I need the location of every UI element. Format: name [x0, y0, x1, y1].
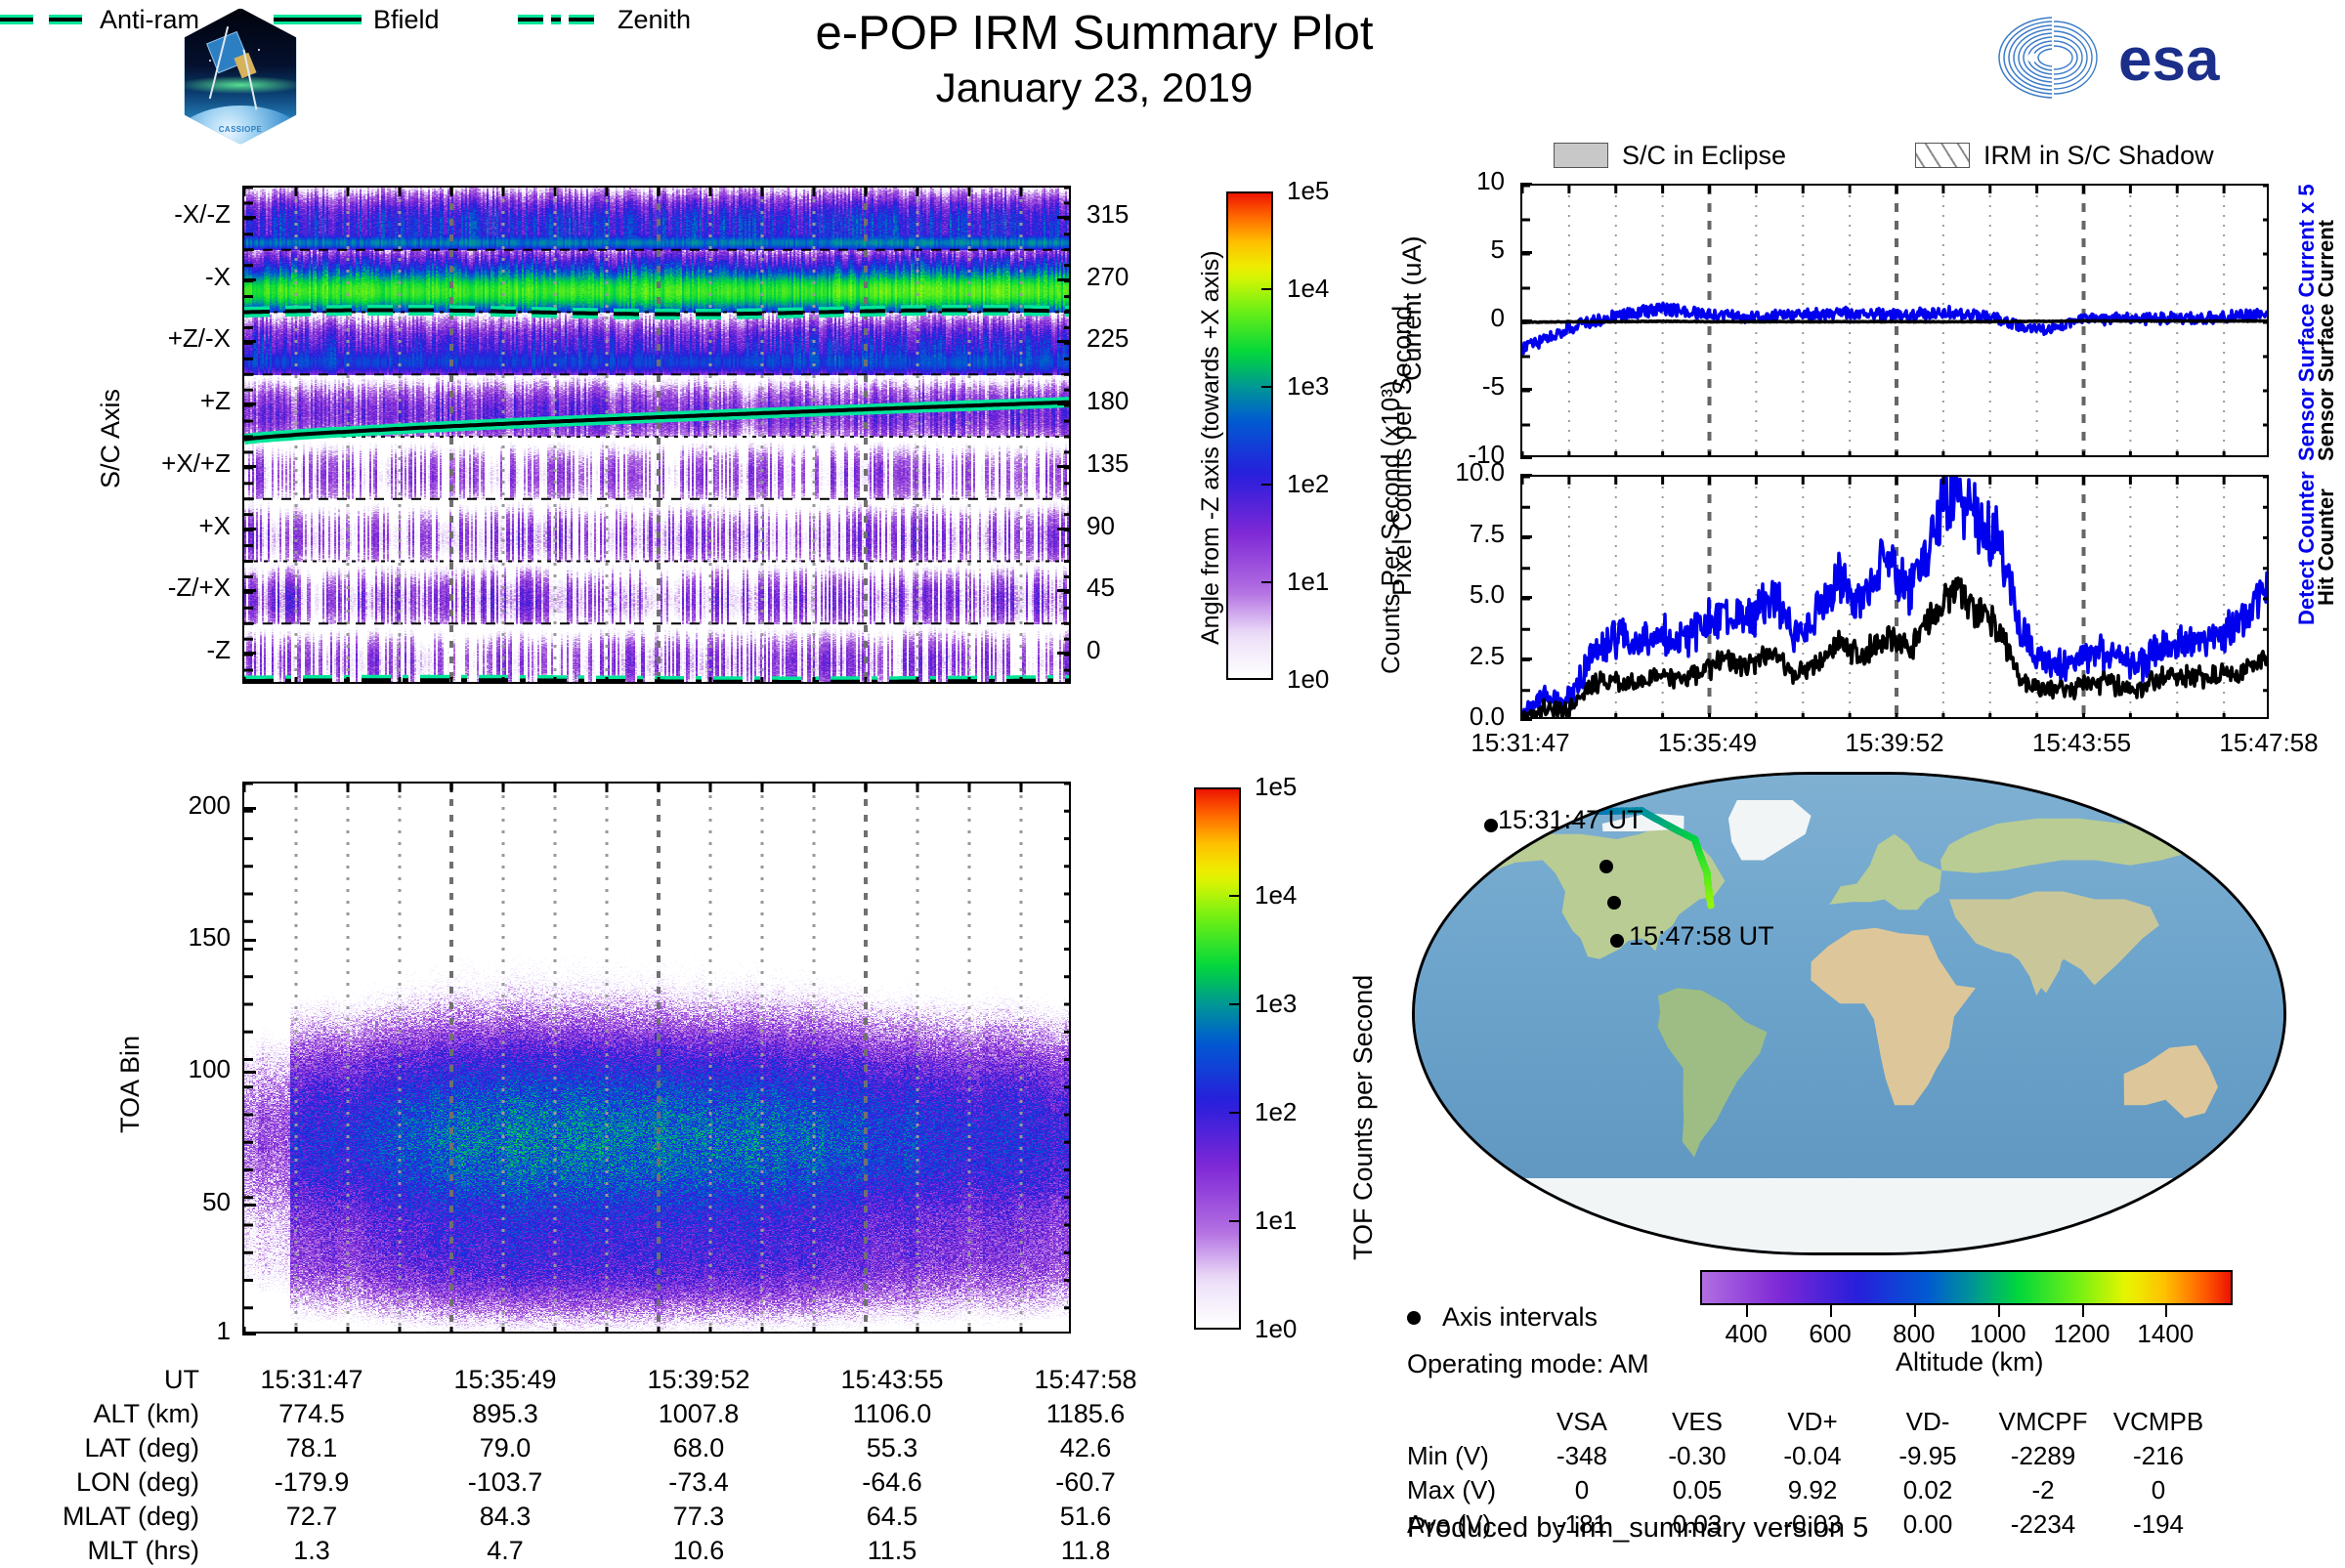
- toa-ytick-mark: [242, 1333, 256, 1335]
- voltage-cell: -216: [2101, 1439, 2216, 1473]
- ground-track-map: 15:31:47 UT 15:47:58 UT: [1412, 772, 2286, 1255]
- voltage-cell: 0.02: [1870, 1473, 1985, 1507]
- sc-axis-ytick-mark: [242, 340, 256, 343]
- current-ytick-mark: [1520, 183, 1532, 186]
- colorbar-tick-label: 1e1: [1255, 1206, 1297, 1236]
- counts-xtick: 15:47:58: [2186, 728, 2345, 758]
- counts-xtick: 15:43:55: [1999, 728, 2165, 758]
- ephemeris-cell: 1185.6: [989, 1397, 1182, 1431]
- bfield-line-icon: [274, 13, 362, 26]
- table-row: UT15:31:4715:35:4915:39:5215:43:5515:47:…: [29, 1363, 1182, 1397]
- current-ytick-mark: [1520, 388, 1532, 391]
- sc-axis-ytick: -X/-Z: [59, 199, 231, 230]
- ephemeris-cell: 77.3: [602, 1500, 795, 1534]
- altitude-tick-label: 1200: [2053, 1319, 2111, 1349]
- colorbar-tick: [1261, 484, 1271, 486]
- voltage-cell: 0: [2101, 1473, 2216, 1507]
- colorbar-tick: [1229, 1112, 1239, 1114]
- current-ytick: 0: [1368, 303, 1505, 333]
- page-subtitle: January 23, 2019: [606, 64, 1583, 111]
- ephemeris-cell: 1106.0: [795, 1397, 989, 1431]
- current-ytick: 10: [1368, 166, 1505, 196]
- track-point-3: [1607, 896, 1621, 910]
- toa-ytick: 1: [107, 1316, 231, 1346]
- altitude-tick-label: 1400: [2136, 1319, 2195, 1349]
- ephemeris-cell: 15:35:49: [408, 1363, 602, 1397]
- sc-axis-spectrogram-panel: [242, 186, 1071, 684]
- sc-axis-ytick: +X: [59, 511, 231, 541]
- sc-angle-tick-mark: [1057, 278, 1071, 281]
- sc-angle-tick: 225: [1087, 323, 1165, 354]
- current-ytick: 5: [1368, 234, 1505, 265]
- sc-angle-tick-mark: [1057, 465, 1071, 468]
- counts-ytick: 10.0: [1368, 457, 1505, 487]
- table-row: LON (deg)-179.9-103.7-73.4-64.6-60.7: [29, 1465, 1182, 1500]
- voltage-column-header: VES: [1640, 1405, 1755, 1439]
- counts-ytick: 7.5: [1368, 519, 1505, 549]
- altitude-tick: [1998, 1305, 2000, 1317]
- voltage-corner-cell: [1407, 1405, 1524, 1439]
- voltage-cell: 9.92: [1755, 1473, 1870, 1507]
- ephemeris-table: UT15:31:4715:35:4915:39:5215:43:5515:47:…: [29, 1363, 1182, 1568]
- ephemeris-cell: -60.7: [989, 1465, 1182, 1500]
- table-row: ALT (km)774.5895.31007.81106.01185.6: [29, 1397, 1182, 1431]
- voltage-column-header: VD+: [1755, 1405, 1870, 1439]
- map-start-time-label: 15:31:47 UT: [1498, 805, 1643, 835]
- voltage-cell: 0.00: [1870, 1507, 1985, 1542]
- legend-label-zenith: Zenith: [618, 5, 691, 35]
- ephemeris-row-label: MLAT (deg): [29, 1500, 215, 1534]
- voltage-row-label: Max (V): [1407, 1473, 1524, 1507]
- track-point-2: [1599, 860, 1613, 873]
- ephemeris-cell: -179.9: [215, 1465, 408, 1500]
- colorbar-tick-label: 1e4: [1255, 880, 1297, 911]
- colorbar-tick-label: 1e3: [1287, 371, 1329, 402]
- counts-ytick-mark: [1520, 596, 1532, 599]
- colorbar-tick: [1261, 581, 1271, 583]
- toa-ytick-mark: [242, 807, 256, 810]
- colorbar-tick-label: 1e5: [1255, 772, 1297, 802]
- ephemeris-cell: 78.1: [215, 1431, 408, 1465]
- voltage-cell: -194: [2101, 1507, 2216, 1542]
- current-ytick-mark: [1520, 319, 1532, 322]
- colorbar-tick-label: 1e3: [1255, 989, 1297, 1019]
- operating-mode-label: Operating mode: AM: [1407, 1349, 1649, 1379]
- sc-axis-ytick: +Z/-X: [59, 323, 231, 354]
- ephemeris-cell: 68.0: [602, 1431, 795, 1465]
- toa-ytick: 100: [107, 1054, 231, 1084]
- ephemeris-cell: 774.5: [215, 1397, 408, 1431]
- ephemeris-cell: 72.7: [215, 1500, 408, 1534]
- sc-axis-ytick-mark: [242, 465, 256, 468]
- zenith-line-icon: [518, 13, 606, 26]
- ephemeris-cell: 51.6: [989, 1500, 1182, 1534]
- tof-counts-colorbar: [1194, 787, 1241, 1330]
- toa-bin-spectrogram-panel: [242, 782, 1071, 1334]
- tof-counts-colorbar-label: TOF Counts per Second: [1348, 975, 1379, 1260]
- colorbar-tick-label: 1e5: [1287, 176, 1329, 206]
- ephemeris-row-label: LON (deg): [29, 1465, 215, 1500]
- shade-legend: S/C in Eclipse IRM in S/C Shadow: [1554, 137, 2277, 174]
- table-row: LAT (deg)78.179.068.055.342.6: [29, 1431, 1182, 1465]
- current-plot-panel: [1520, 184, 2269, 457]
- current-right-label-black: Sensor Surface Current: [2314, 220, 2339, 461]
- colorbar-tick-label: 1e2: [1287, 469, 1329, 499]
- table-row: Min (V)-348-0.30-0.04-9.95-2289-216: [1407, 1439, 2216, 1473]
- altitude-tick: [2082, 1305, 2084, 1317]
- legend-label-bfield: Bfield: [373, 5, 440, 35]
- sc-axis-ytick-mark: [242, 403, 256, 405]
- legend-label-eclipse: S/C in Eclipse: [1622, 141, 1786, 171]
- legend-item-bfield: Bfield: [274, 0, 440, 39]
- sc-axis-ytick-mark: [242, 589, 256, 592]
- legend-label-shadow: IRM in S/C Shadow: [1983, 141, 2214, 171]
- sc-axis-ytick: -Z/+X: [59, 572, 231, 603]
- counts-right-label-black: Hit Counter: [2314, 488, 2339, 606]
- altitude-colorbar-label: Altitude (km): [1896, 1347, 2044, 1377]
- counts-ytick-mark: [1520, 718, 1532, 721]
- ephemeris-cell: 64.5: [795, 1500, 989, 1534]
- altitude-tick-label: 600: [1801, 1319, 1859, 1349]
- sc-axis-ytick-mark: [242, 278, 256, 281]
- map-end-time-label: 15:47:58 UT: [1629, 921, 1774, 952]
- ephemeris-cell: -64.6: [795, 1465, 989, 1500]
- colorbar-tick: [1261, 288, 1271, 290]
- ephemeris-cell: 55.3: [795, 1431, 989, 1465]
- table-header-row: VSAVESVD+VD-VMCPFVCMPB: [1407, 1405, 2216, 1439]
- ephemeris-row-label: UT: [29, 1363, 215, 1397]
- ephemeris-cell: 15:31:47: [215, 1363, 408, 1397]
- esa-logo-icon: esa: [1993, 14, 2277, 102]
- voltage-cell: -9.95: [1870, 1439, 1985, 1473]
- sc-angle-tick: 270: [1087, 262, 1165, 292]
- toa-bin-heatmap: [244, 784, 1071, 1334]
- counts-xtick: 15:35:49: [1625, 728, 1791, 758]
- ephemeris-cell: 895.3: [408, 1397, 602, 1431]
- ephemeris-cell: 15:43:55: [795, 1363, 989, 1397]
- toa-ytick-mark: [242, 1204, 256, 1207]
- sc-axis-ytick: -Z: [59, 635, 231, 665]
- table-row: MLAT (deg)72.784.377.364.551.6: [29, 1500, 1182, 1534]
- sc-angle-tick: 135: [1087, 448, 1165, 479]
- current-ytick-mark: [1520, 251, 1532, 254]
- altitude-tick-label: 1000: [1969, 1319, 2027, 1349]
- altitude-tick: [2165, 1305, 2167, 1317]
- voltage-cell: -0.04: [1755, 1439, 1870, 1473]
- altitude-colorbar: [1700, 1270, 2233, 1305]
- eclipse-swatch-icon: [1554, 143, 1608, 168]
- colorbar-tick: [1229, 1003, 1239, 1005]
- voltage-column-header: VCMPB: [2101, 1405, 2216, 1439]
- sc-angle-tick-mark: [1057, 216, 1071, 219]
- legend-item-shadow: IRM in S/C Shadow: [1915, 137, 2214, 174]
- sc-axis-ytick-mark: [242, 652, 256, 655]
- toa-ytick: 150: [107, 922, 231, 953]
- axis-intervals-legend: Axis intervals: [1407, 1302, 1598, 1333]
- sc-axis-ytick: -X: [59, 262, 231, 292]
- world-map-canvas: [1415, 775, 2286, 1255]
- axis-interval-dot-icon: [1407, 1311, 1421, 1325]
- sc-axis-ytick: +X/+Z: [59, 448, 231, 479]
- sc-angle-tick-mark: [1057, 589, 1071, 592]
- shadow-swatch-icon: [1915, 143, 1970, 168]
- colorbar-tick-label: 1e0: [1255, 1314, 1297, 1344]
- altitude-tick: [1746, 1305, 1748, 1317]
- ephemeris-row-label: ALT (km): [29, 1397, 215, 1431]
- voltage-cell: 0: [1524, 1473, 1640, 1507]
- counts-xtick: 15:39:52: [1812, 728, 1978, 758]
- voltage-cell: -0.30: [1640, 1439, 1755, 1473]
- counts-ytick-mark: [1520, 535, 1532, 538]
- anti-ram-line-icon: [0, 13, 88, 26]
- voltage-cell: -348: [1524, 1439, 1640, 1473]
- ephemeris-cell: 15:47:58: [989, 1363, 1182, 1397]
- sc-axis-ytick-mark: [242, 528, 256, 530]
- patch-label: CASSIOPE: [185, 125, 296, 134]
- sc-angle-tick-mark: [1057, 652, 1071, 655]
- track-point-start: [1484, 819, 1498, 832]
- sc-angle-tick-mark: [1057, 403, 1071, 405]
- axis-overlay-legend: Anti-ram Bfield Zenith: [0, 0, 664, 39]
- axis-intervals-label: Axis intervals: [1442, 1302, 1598, 1333]
- counts-ytick: 5.0: [1368, 579, 1505, 610]
- ephemeris-cell: 15:39:52: [602, 1363, 795, 1397]
- altitude-tick-label: 400: [1717, 1319, 1775, 1349]
- sc-angle-tick: 180: [1087, 386, 1165, 416]
- ephemeris-row-label: LAT (deg): [29, 1431, 215, 1465]
- legend-item-anti-ram: Anti-ram: [0, 0, 199, 39]
- counts-ytick: 2.5: [1368, 641, 1505, 671]
- ephemeris-cell: -103.7: [408, 1465, 602, 1500]
- sc-angle-tick: 45: [1087, 572, 1165, 603]
- sc-axis-heatmap: [244, 188, 1071, 684]
- counts-xtick: 15:31:47: [1437, 728, 1603, 758]
- colorbar-tick: [1261, 386, 1271, 388]
- altitude-tick: [1914, 1305, 1916, 1317]
- colorbar-tick: [1229, 1220, 1239, 1222]
- legend-item-zenith: Zenith: [518, 0, 691, 39]
- sc-angle-tick-mark: [1057, 528, 1071, 530]
- current-ytick-mark: [1520, 456, 1532, 459]
- ephemeris-cell: 84.3: [408, 1500, 602, 1534]
- toa-ytick: 50: [107, 1187, 231, 1217]
- pixel-counts-colorbar: [1226, 191, 1273, 680]
- sc-axis-ytick: +Z: [59, 386, 231, 416]
- ephemeris-cell: 79.0: [408, 1431, 602, 1465]
- counts-ytick-mark: [1520, 474, 1532, 477]
- ephemeris-cell: -73.4: [602, 1465, 795, 1500]
- page-title: e-POP IRM Summary Plot: [606, 6, 1583, 61]
- colorbar-tick-label: 1e4: [1287, 274, 1329, 304]
- altitude-tick: [1830, 1305, 1832, 1317]
- voltage-cell: 0.05: [1640, 1473, 1755, 1507]
- counts-plot-panel: [1520, 475, 2269, 719]
- colorbar-tick-label: 1e2: [1255, 1097, 1297, 1127]
- sc-angle-tick: 0: [1087, 635, 1165, 665]
- toa-ytick: 200: [107, 790, 231, 821]
- toa-ytick-mark: [242, 939, 256, 942]
- voltage-column-header: VSA: [1524, 1405, 1640, 1439]
- sc-axis-ytick-mark: [242, 216, 256, 219]
- counts-ytick-mark: [1520, 657, 1532, 660]
- sc-angle-tick: 315: [1087, 199, 1165, 230]
- svg-text:esa: esa: [2118, 26, 2220, 94]
- table-row: Max (V)00.059.920.02-20: [1407, 1473, 2216, 1507]
- produced-by-label: Produced by irm_summary version 5: [1407, 1512, 1868, 1545]
- colorbar-tick: [1229, 895, 1239, 897]
- voltage-column-header: VD-: [1870, 1405, 1985, 1439]
- voltage-cell: -2289: [1985, 1439, 2101, 1473]
- ephemeris-cell: 42.6: [989, 1431, 1182, 1465]
- current-chart: [1522, 186, 2269, 457]
- counts-chart: [1522, 477, 2269, 719]
- toa-ytick-mark: [242, 1071, 256, 1074]
- colorbar-tick-label: 1e1: [1287, 567, 1329, 597]
- legend-item-eclipse: S/C in Eclipse: [1554, 137, 1786, 174]
- voltage-cell: -2234: [1985, 1507, 2101, 1542]
- voltage-column-header: VMCPF: [1985, 1405, 2101, 1439]
- colorbar-tick-label: 1e0: [1287, 664, 1329, 695]
- ephemeris-cell: 1007.8: [602, 1397, 795, 1431]
- voltage-row-label: Min (V): [1407, 1439, 1524, 1473]
- legend-label-anti-ram: Anti-ram: [100, 5, 199, 35]
- voltage-cell: -2: [1985, 1473, 2101, 1507]
- sc-angle-tick-mark: [1057, 340, 1071, 343]
- track-point-end: [1610, 934, 1624, 948]
- sc-angle-tick: 90: [1087, 511, 1165, 541]
- sc-axis-y2label: Angle from -Z axis (towards +X axis): [1197, 250, 1225, 645]
- altitude-tick-label: 800: [1885, 1319, 1943, 1349]
